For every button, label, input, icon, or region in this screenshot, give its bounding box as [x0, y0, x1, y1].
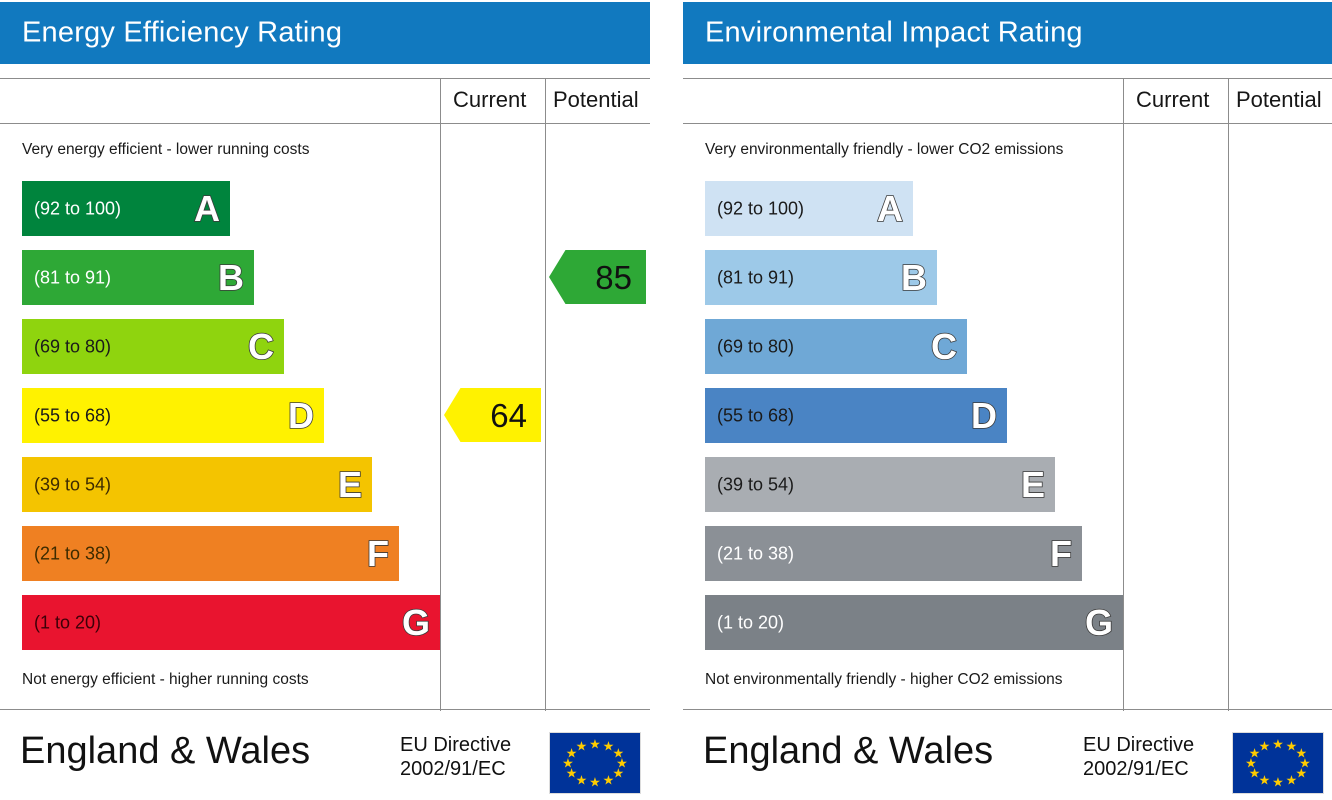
eu-flag-star-icon: ★ [589, 776, 601, 789]
enviro-band-g-range: (1 to 20) [717, 612, 784, 633]
energy-band-a-range: (92 to 100) [34, 198, 121, 219]
enviro-band-e: (39 to 54) E [705, 457, 1055, 512]
energy-band-f-range: (21 to 38) [34, 543, 111, 564]
environmental-impact-panel: Environmental Impact Rating Current Pote… [683, 0, 1332, 800]
energy-band-d-range: (55 to 68) [34, 405, 111, 426]
energy-band-a: (92 to 100) A [22, 181, 230, 236]
enviro-band-e-range: (39 to 54) [717, 474, 794, 495]
enviro-band-f-range: (21 to 38) [717, 543, 794, 564]
energy-band-g-range: (1 to 20) [34, 612, 101, 633]
enviro-footer-directive-line1: EU Directive [1083, 734, 1194, 758]
energy-band-a-letter: A [194, 191, 220, 227]
energy-band-f-letter: F [367, 536, 389, 572]
enviro-band-b-range: (81 to 91) [717, 267, 794, 288]
enviro-footer-directive-line2: 2002/91/EC [1083, 758, 1194, 782]
energy-footer-directive-line1: EU Directive [400, 734, 511, 758]
enviro-footer: England & Wales EU Directive 2002/91/EC … [683, 712, 1332, 800]
energy-band-b: (81 to 91) B [22, 250, 254, 305]
enviro-band-c-letter: C [931, 329, 957, 365]
energy-band-c-range: (69 to 80) [34, 336, 111, 357]
eu-flag-star-icon: ★ [589, 737, 601, 750]
energy-band-bars: (92 to 100) A (81 to 91) B (69 to 80) C … [0, 79, 650, 711]
enviro-band-bars: (92 to 100) A (81 to 91) B (69 to 80) C … [683, 79, 1332, 711]
eu-flag-star-icon: ★ [1286, 773, 1298, 786]
enviro-band-a-range: (92 to 100) [717, 198, 804, 219]
enviro-panel-title: Environmental Impact Rating [705, 17, 1083, 50]
energy-efficiency-panel: Energy Efficiency Rating Current Potenti… [0, 0, 650, 800]
enviro-footer-directive: EU Directive 2002/91/EC [1083, 734, 1194, 781]
enviro-band-e-letter: E [1021, 467, 1045, 503]
energy-footer-region: England & Wales [20, 730, 310, 773]
energy-band-g: (1 to 20) G [22, 595, 440, 650]
energy-footer-directive-line2: 2002/91/EC [400, 758, 511, 782]
epc-rating-graphic: Energy Efficiency Rating Current Potenti… [0, 0, 1332, 800]
enviro-band-d-range: (55 to 68) [717, 405, 794, 426]
enviro-band-b-letter: B [901, 260, 927, 296]
energy-band-f: (21 to 38) F [22, 526, 399, 581]
eu-flag-star-icon: ★ [1272, 737, 1284, 750]
energy-current-rating-arrow: 64 [444, 388, 541, 442]
eu-flag-star-icon: ★ [603, 773, 615, 786]
energy-rating-grid: Current Potential Very energy efficient … [0, 78, 650, 710]
enviro-band-g-letter: G [1085, 605, 1113, 641]
eu-flag-icon: ★★★★★★★★★★★★ [549, 732, 641, 794]
eu-flag-star-icon: ★ [1272, 776, 1284, 789]
enviro-rating-grid: Current Potential Very environmentally f… [683, 78, 1332, 710]
enviro-band-a-letter: A [877, 191, 903, 227]
enviro-band-f-letter: F [1050, 536, 1072, 572]
eu-flag-icon: ★★★★★★★★★★★★ [1232, 732, 1324, 794]
enviro-band-c-range: (69 to 80) [717, 336, 794, 357]
energy-potential-rating-value: 85 [595, 261, 632, 294]
energy-band-b-letter: B [218, 260, 244, 296]
energy-band-e: (39 to 54) E [22, 457, 372, 512]
enviro-band-g: (1 to 20) G [705, 595, 1123, 650]
enviro-band-d: (55 to 68) D [705, 388, 1007, 443]
enviro-band-f: (21 to 38) F [705, 526, 1082, 581]
energy-band-e-range: (39 to 54) [34, 474, 111, 495]
enviro-footer-region: England & Wales [703, 730, 993, 773]
enviro-band-a: (92 to 100) A [705, 181, 913, 236]
energy-footer: England & Wales EU Directive 2002/91/EC … [0, 712, 650, 800]
eu-flag-star-icon: ★ [1259, 740, 1271, 753]
energy-band-b-range: (81 to 91) [34, 267, 111, 288]
enviro-band-d-letter: D [971, 398, 997, 434]
eu-flag-star-icon: ★ [576, 740, 588, 753]
energy-band-d-letter: D [288, 398, 314, 434]
energy-panel-titlebar: Energy Efficiency Rating [0, 2, 650, 64]
energy-band-c-letter: C [248, 329, 274, 365]
enviro-panel-titlebar: Environmental Impact Rating [683, 2, 1332, 64]
energy-panel-title: Energy Efficiency Rating [22, 17, 342, 50]
energy-footer-directive: EU Directive 2002/91/EC [400, 734, 511, 781]
energy-potential-rating-arrow: 85 [549, 250, 646, 304]
energy-band-d: (55 to 68) D [22, 388, 324, 443]
energy-band-e-letter: E [338, 467, 362, 503]
energy-current-rating-value: 64 [490, 399, 527, 432]
enviro-band-b: (81 to 91) B [705, 250, 937, 305]
energy-band-g-letter: G [402, 605, 430, 641]
enviro-band-c: (69 to 80) C [705, 319, 967, 374]
energy-band-c: (69 to 80) C [22, 319, 284, 374]
